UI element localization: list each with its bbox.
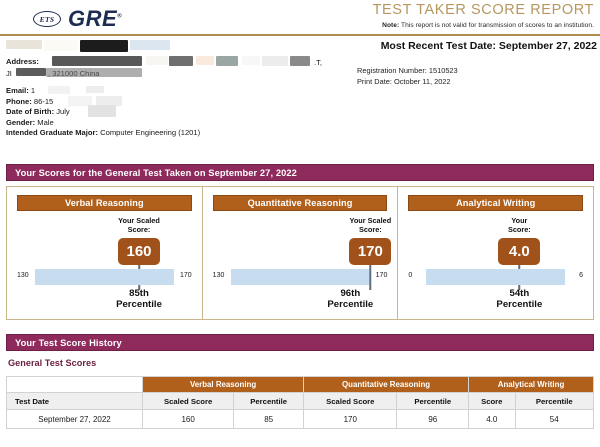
- email-label: Email:: [6, 86, 29, 95]
- note-label: Note:: [382, 22, 399, 29]
- table-corner-cell: [7, 377, 143, 393]
- address-label: Address:: [6, 57, 39, 66]
- scale-min-verbal: 130: [17, 272, 29, 279]
- ets-logo-icon: ETS: [33, 11, 61, 27]
- address-line-2: JI , 321000 China: [6, 69, 346, 81]
- score-panel-quantitative: Quantitative Reasoning Your Scaled Score…: [202, 187, 398, 319]
- gender-label: Gender:: [6, 118, 35, 127]
- registration-block: Most Recent Test Date: September 27, 202…: [357, 40, 597, 87]
- dob-row: Date of Birth: July: [6, 107, 346, 118]
- table-sub-header-row: Test Date Scaled Score Percentile Scaled…: [7, 393, 594, 410]
- header-divider: [0, 34, 600, 36]
- group-header-analytical: Analytical Writing: [469, 377, 594, 393]
- registration-number: Registration Number: 1510523: [357, 65, 597, 76]
- cell-verbal-percentile: 85: [234, 410, 304, 429]
- scores-banner: Your Scores for the General Test Taken o…: [6, 164, 594, 181]
- page-title: TEST TAKER SCORE REPORT: [234, 2, 594, 18]
- phone-label: Phone:: [6, 97, 32, 106]
- percentile-verbal: 85th Percentile: [93, 288, 185, 310]
- major-label: Intended Graduate Major:: [6, 128, 98, 137]
- scale-max-quantitative: 170: [376, 272, 388, 279]
- score-value-verbal: 160: [118, 238, 160, 265]
- percentile-quantitative: 96th Percentile: [304, 288, 396, 310]
- dob-value: July: [56, 107, 70, 116]
- score-value-analytical: 4.0: [498, 238, 540, 265]
- email-value: 1: [31, 86, 35, 95]
- note-text: This report is not valid for transmissio…: [399, 22, 594, 29]
- print-date: Print Date: October 11, 2022: [357, 76, 597, 87]
- score-label-verbal: Your Scaled Score:: [108, 217, 170, 235]
- col-header-quant-percentile: Percentile: [397, 393, 469, 410]
- table-group-header-row: Verbal Reasoning Quantitative Reasoning …: [7, 377, 594, 393]
- panel-title-quantitative: Quantitative Reasoning: [213, 195, 388, 211]
- test-taker-name-redacted: [6, 40, 346, 51]
- cell-quant-percentile: 96: [397, 410, 469, 429]
- dob-label: Date of Birth:: [6, 107, 54, 116]
- score-history-table: Verbal Reasoning Quantitative Reasoning …: [6, 376, 594, 429]
- header-right-block: TEST TAKER SCORE REPORT Note: This repor…: [234, 2, 594, 29]
- gender-value: Male: [37, 118, 53, 127]
- major-value: Computer Engineering (1201): [100, 128, 200, 137]
- address-city-prefix: JI: [6, 69, 12, 80]
- scale-min-quantitative: 130: [213, 272, 225, 279]
- history-subhead: General Test Scores: [8, 358, 96, 368]
- score-panel-verbal: Verbal Reasoning Your Scaled Score: 160 …: [7, 187, 202, 319]
- score-bar-quantitative: 130 170: [213, 269, 388, 285]
- col-header-quant-scaled: Scaled Score: [304, 393, 397, 410]
- major-row: Intended Graduate Major: Computer Engine…: [6, 128, 346, 139]
- col-header-test-date: Test Date: [7, 393, 143, 410]
- col-header-verbal-scaled: Scaled Score: [143, 393, 234, 410]
- panel-title-analytical: Analytical Writing: [408, 195, 583, 211]
- group-header-quantitative: Quantitative Reasoning: [304, 377, 469, 393]
- score-bar-verbal: 130 170: [17, 269, 192, 285]
- scale-track-verbal: [35, 269, 174, 285]
- score-value-quantitative: 170: [349, 238, 391, 265]
- validity-note: Note: This report is not valid for trans…: [234, 22, 594, 29]
- table-row: September 27, 2022 160 85 170 96 4.0 54: [7, 410, 594, 429]
- phone-value: 86-15: [34, 97, 53, 106]
- scale-max-analytical: 6: [579, 272, 583, 279]
- gender-row: Gender: Male: [6, 118, 346, 129]
- col-header-verbal-percentile: Percentile: [234, 393, 304, 410]
- most-recent-test-date: Most Recent Test Date: September 27, 202…: [357, 40, 597, 52]
- score-panels: Verbal Reasoning Your Scaled Score: 160 …: [6, 186, 594, 320]
- address-suffix: .T,: [314, 58, 322, 69]
- percentile-analytical: 54th Percentile: [473, 288, 565, 310]
- cell-aw-percentile: 54: [515, 410, 594, 429]
- scale-track-quantitative: [231, 269, 370, 285]
- score-label-quantitative: Your Scaled Score:: [339, 217, 401, 235]
- personal-info-block: Address: .T, JI , 321000 China Email: 1 …: [6, 40, 346, 139]
- cell-test-date: September 27, 2022: [7, 410, 143, 429]
- gre-wordmark: GRE®: [68, 6, 122, 32]
- scale-max-verbal: 170: [180, 272, 192, 279]
- score-bar-analytical: 0 6: [408, 269, 583, 285]
- scale-min-analytical: 0: [408, 272, 412, 279]
- registered-mark-icon: ®: [117, 14, 122, 20]
- report-header: ETS GRE® TEST TAKER SCORE REPORT Note: T…: [0, 0, 600, 33]
- col-header-aw-percentile: Percentile: [515, 393, 594, 410]
- col-header-aw-score: Score: [469, 393, 515, 410]
- cell-quant-scaled: 170: [304, 410, 397, 429]
- email-row: Email: 1: [6, 86, 346, 97]
- ets-logo-text: ETS: [40, 15, 55, 24]
- cell-aw-score: 4.0: [469, 410, 515, 429]
- brand-logo: ETS GRE®: [33, 6, 122, 32]
- cell-verbal-scaled: 160: [143, 410, 234, 429]
- phone-row: Phone: 86-15: [6, 97, 346, 108]
- score-panel-analytical: Analytical Writing Your Score: 4.0 0 6 5…: [397, 187, 593, 319]
- panel-title-verbal: Verbal Reasoning: [17, 195, 192, 211]
- scale-track-analytical: [426, 269, 565, 285]
- history-banner: Your Test Score History: [6, 334, 594, 351]
- score-label-analytical: Your Score:: [488, 217, 550, 235]
- group-header-verbal: Verbal Reasoning: [143, 377, 304, 393]
